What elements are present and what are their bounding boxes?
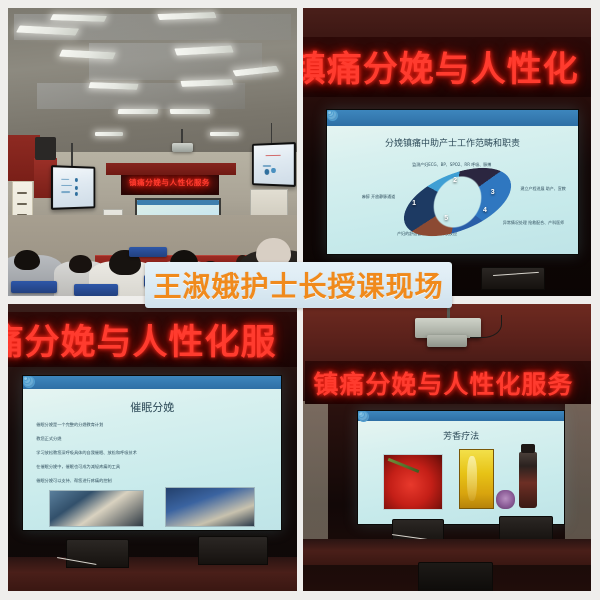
ceiling-panel [37, 83, 245, 109]
slide-bullet-text: 在催眠分娩中，催眠也可成为减轻疼痛的工具 [36, 464, 120, 470]
projection-screen: 分娩镇痛中助产士工作范畴和职责 监测产妇ECG、BP、SPO2、RR 呼吸、脉搏… [326, 109, 580, 256]
led-banner-display: 痛分娩与人性化服 [8, 312, 297, 367]
foreground-chair [418, 562, 493, 591]
cycle-number: 5 [444, 215, 448, 222]
desk-chair [499, 516, 554, 542]
slide-bullet-text: 教您正式分娩 [36, 436, 61, 442]
bottle-cap [521, 444, 534, 453]
front-desk-row [303, 539, 592, 565]
led-banner-display: 镇痛分娩与人性化服务 [305, 361, 591, 404]
slide-title: 芳香疗法 [416, 429, 507, 442]
caption-banner: 王淑娥护士长授课现场 [145, 262, 452, 308]
ceiling-light [210, 132, 239, 137]
led-banner-display: 镇痛分娩与人性化 [303, 37, 592, 97]
audience-head [69, 255, 92, 272]
photo-top-right: 镇痛分娩与人性化 分娩镇痛中助产士工作范畴和职责 监测产妇ECG、BP、SPO2… [303, 8, 592, 296]
ceiling-light [95, 132, 124, 137]
slide-image-flowers [496, 490, 515, 509]
cycle-number: 4 [483, 207, 487, 214]
slide-image-honey-jar [459, 449, 494, 509]
projector-lens-housing [427, 335, 467, 347]
slide-annotation: 麻醉 开放静脉通道 [362, 194, 395, 200]
slide-header-bar [327, 110, 579, 126]
photo-bottom-left: 痛分娩与人性化服 催眠分娩 催眠分娩是一个完整的分娩教育计划 教您正式分娩 学习… [8, 304, 297, 592]
led-banner-text: 镇痛分娩与人性化服务 [313, 365, 573, 401]
wall-speaker [35, 137, 55, 160]
ceiling-light [117, 109, 158, 114]
led-banner-text: 镇痛分娩与人性化服务 [129, 177, 210, 188]
slide-title: 催眠分娩 [80, 399, 224, 415]
projector-mount [181, 129, 183, 143]
rose-stem [388, 457, 420, 472]
caption-text: 王淑娥护士长授课现场 [153, 265, 443, 305]
slide-title: 分娩镇痛中助产士工作范畴和职责 [357, 136, 548, 149]
red-wall-panel [106, 163, 236, 175]
chair-blue [74, 284, 117, 296]
ceiling-projector [172, 143, 192, 152]
slide-annotation: 建立产程进展 助产、宣教 [521, 186, 566, 192]
photo-bottom-right: 镇痛分娩与人性化服务 芳香疗法 [303, 304, 592, 592]
projection-screen: 催眠分娩 催眠分娩是一个完整的分娩教育计划 教您正式分娩 学习放松教您深呼吸具体… [22, 375, 282, 530]
photo-collage: 镇痛分娩与人性化服务 [0, 0, 600, 600]
desk-chair [198, 536, 267, 565]
desk-chair [66, 539, 129, 568]
side-monitor-right[interactable] [252, 142, 296, 187]
slide-image-rose [383, 454, 443, 511]
cycle-number: 3 [491, 189, 495, 196]
slide-bullet-text: 催眠分娩是一个完整的分娩教育计划 [36, 422, 103, 428]
chair-blue [129, 247, 167, 257]
audience-head [14, 250, 40, 270]
jar-highlight [467, 456, 477, 501]
slide-image [49, 490, 144, 527]
slide-image-oil-bottle [519, 452, 538, 509]
slide-image [165, 487, 255, 527]
slide-bullet-text: 学习放松教您深呼吸具体的自我催眠、放松和呼吸技术 [36, 450, 137, 456]
monitor-screen [254, 144, 294, 185]
slide-bullet-text: 催眠分娩可以支持、帮您进行疼痛的控制 [36, 478, 111, 484]
desk-chair [481, 267, 544, 290]
projection-screen: 芳香疗法 [357, 410, 565, 525]
monitor-screen [53, 167, 94, 208]
photo-top-left: 镇痛分娩与人性化服务 [8, 8, 297, 296]
cycle-number: 1 [412, 200, 416, 207]
side-wall [303, 401, 329, 539]
slide-header-bar [23, 376, 281, 388]
side-monitor-left[interactable] [51, 165, 95, 210]
led-banner-text: 镇痛分娩与人性化 [303, 41, 579, 92]
chair-blue [11, 281, 57, 293]
cycle-number: 2 [453, 177, 457, 184]
led-banner-text: 痛分娩与人性化服 [8, 314, 276, 365]
ceiling-light [169, 109, 210, 114]
side-wall [565, 401, 591, 539]
cycle-diagram: 1 2 3 4 5 [402, 173, 513, 231]
slide-header-bar [358, 411, 564, 421]
